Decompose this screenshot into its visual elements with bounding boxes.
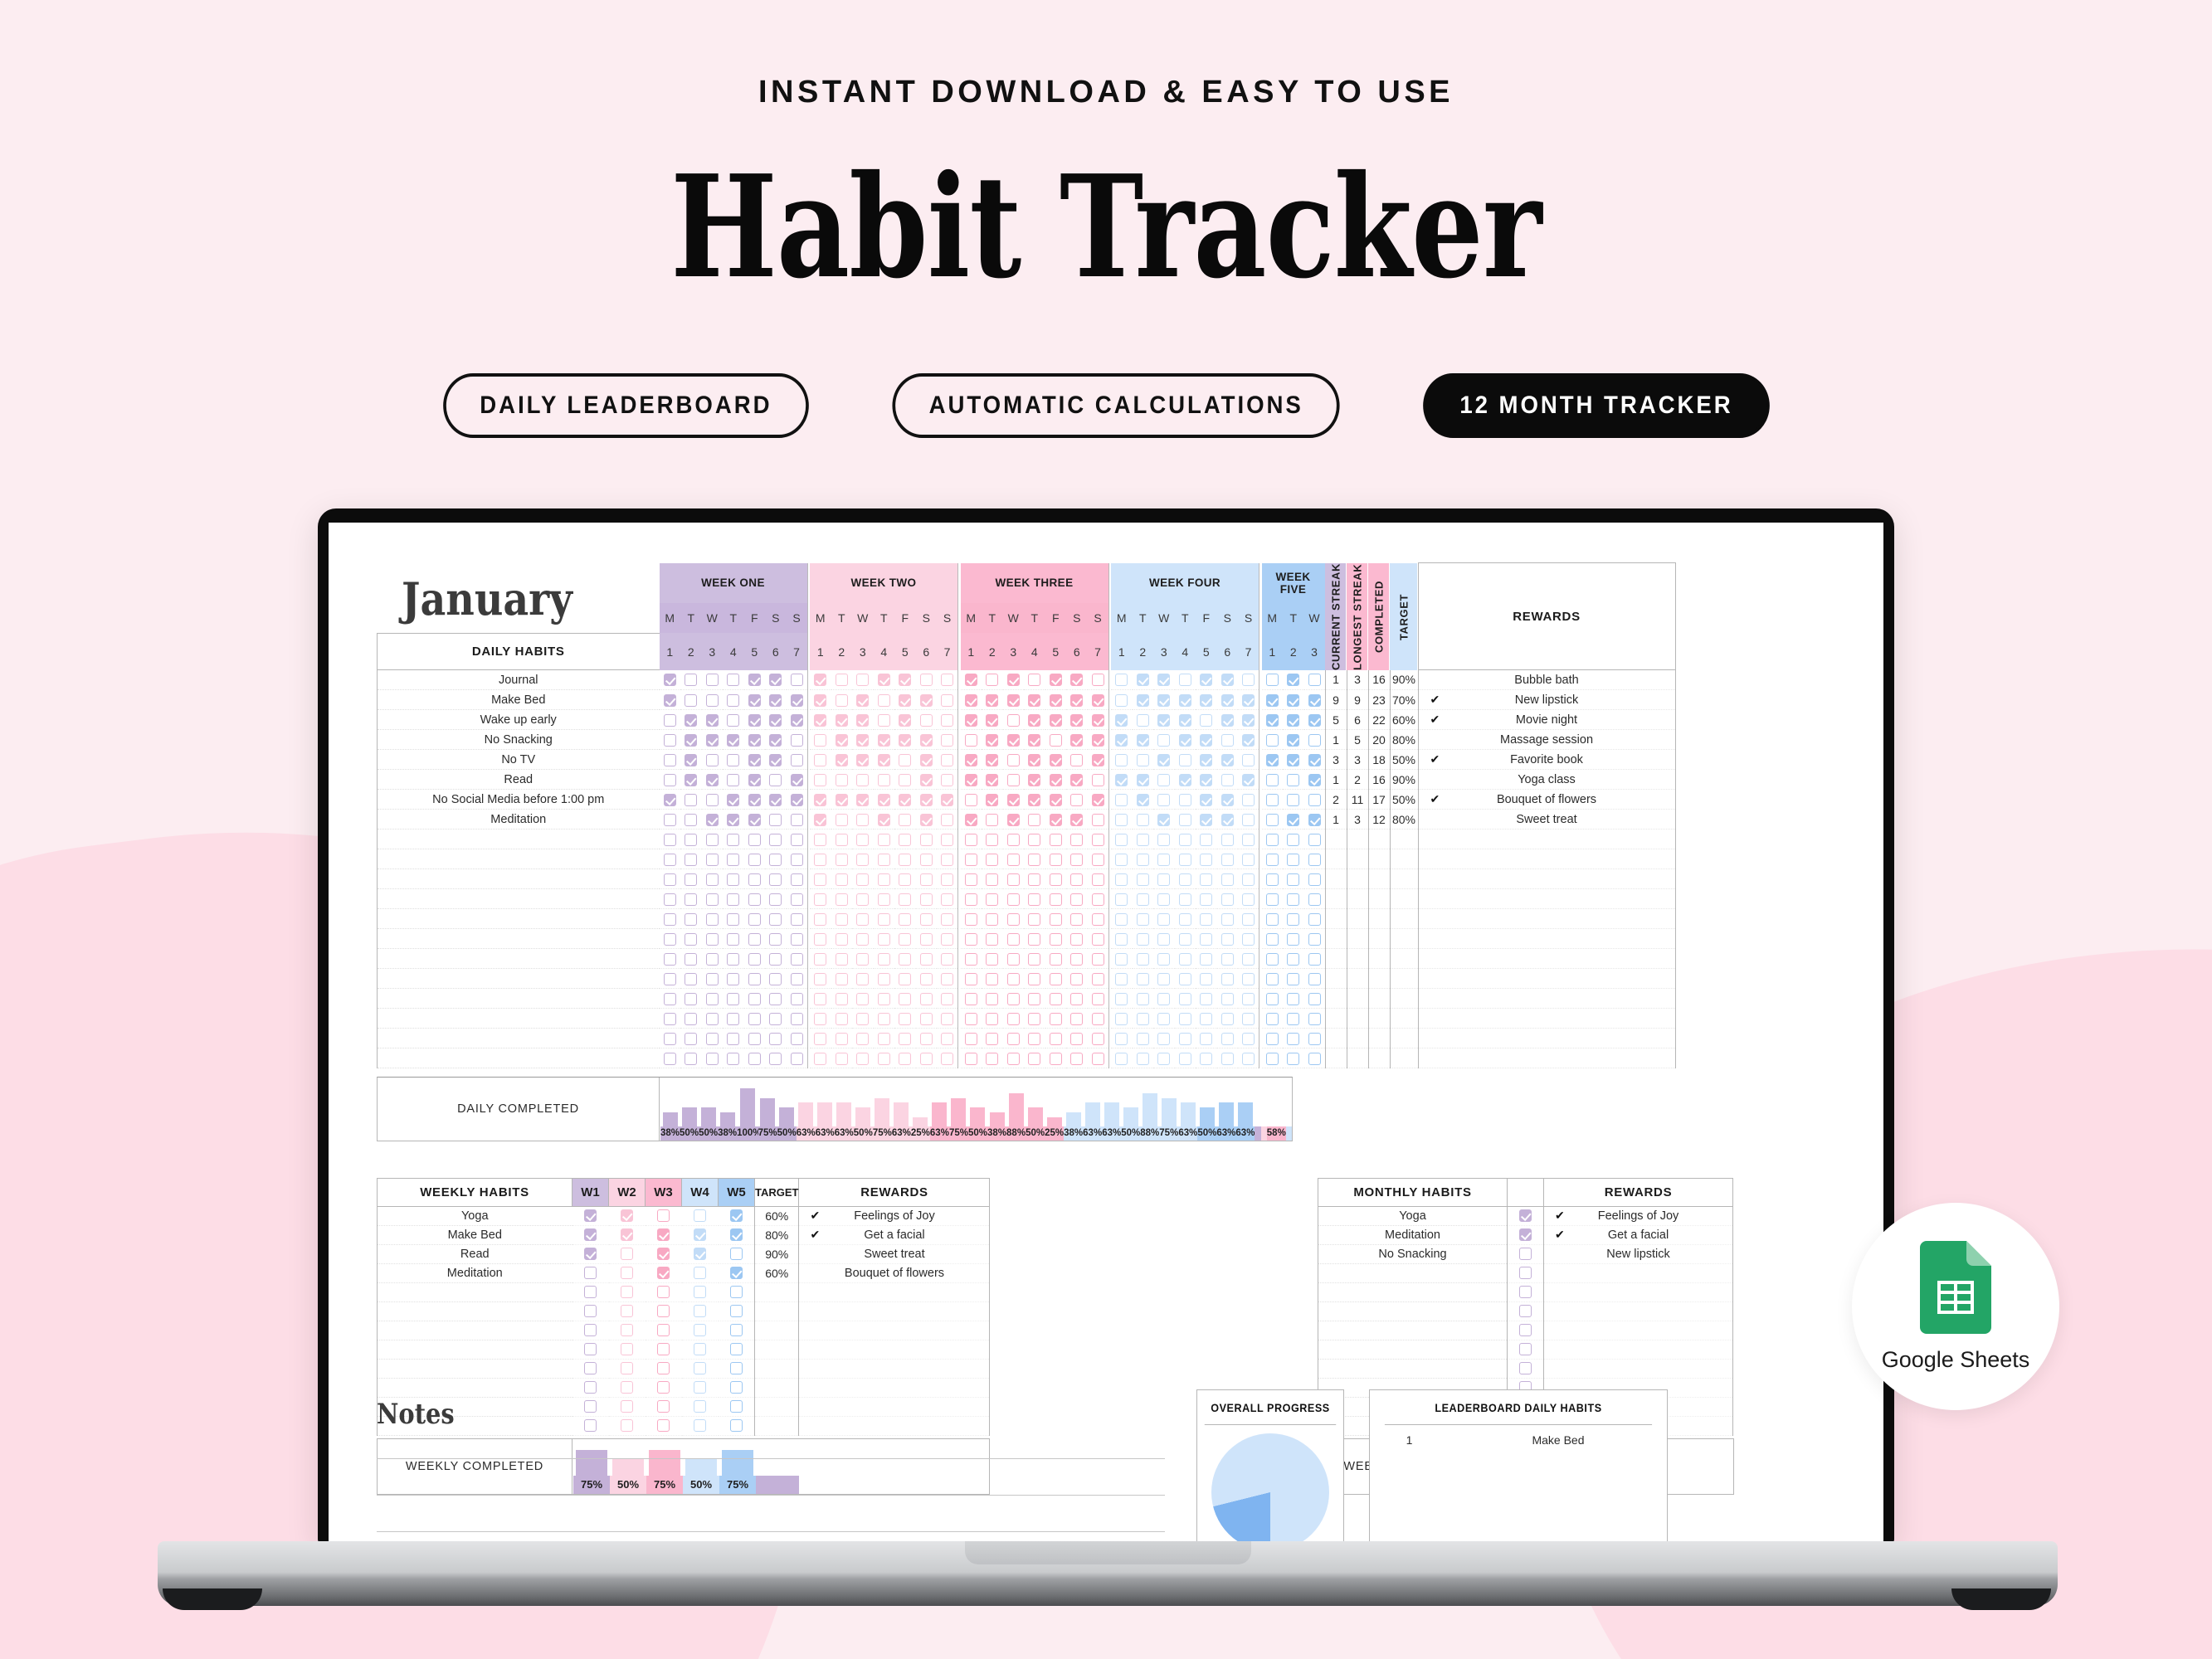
daily-checkbox-empty[interactable] (1283, 829, 1304, 849)
checkbox-unchecked[interactable] (1028, 933, 1040, 946)
checkbox-checked[interactable] (1028, 734, 1040, 747)
checkbox-unchecked[interactable] (1157, 794, 1170, 806)
daily-checkbox-empty[interactable] (1262, 989, 1284, 1009)
checkbox-unchecked[interactable] (1007, 993, 1020, 1005)
checkbox-checked[interactable] (657, 1228, 670, 1241)
daily-checkbox-empty[interactable] (937, 909, 958, 929)
checkbox-unchecked[interactable] (856, 814, 869, 826)
checkbox-unchecked[interactable] (1070, 873, 1083, 886)
checkbox-checked[interactable] (1266, 694, 1279, 707)
checkbox-unchecked[interactable] (1137, 754, 1149, 766)
daily-checkbox-empty[interactable] (1003, 889, 1025, 909)
daily-checkbox-1-1-5[interactable] (744, 670, 766, 690)
checkbox-unchecked[interactable] (1221, 1033, 1234, 1045)
weekly-checkbox-3-W1[interactable] (572, 1245, 609, 1264)
daily-checkbox-empty[interactable] (810, 849, 831, 869)
daily-checkbox-empty[interactable] (1045, 909, 1067, 929)
weekly-checkbox-6-W2[interactable] (609, 1302, 646, 1321)
daily-checkbox-5-2-7[interactable] (937, 750, 958, 770)
checkbox-unchecked[interactable] (1221, 913, 1234, 926)
daily-checkbox-4-4-4[interactable] (1175, 730, 1196, 750)
weekly-checkbox-2-W1[interactable] (572, 1226, 609, 1245)
weekly-checkbox-8-W5[interactable] (719, 1340, 755, 1360)
checkbox-unchecked[interactable] (694, 1419, 706, 1432)
daily-checkbox-empty[interactable] (1238, 909, 1259, 929)
checkbox-unchecked[interactable] (584, 1324, 597, 1336)
checkbox-unchecked[interactable] (664, 754, 676, 766)
checkbox-unchecked[interactable] (1137, 1013, 1149, 1025)
checkbox-unchecked[interactable] (621, 1286, 633, 1298)
checkbox-checked[interactable] (920, 694, 933, 707)
checkbox-unchecked[interactable] (664, 1013, 676, 1025)
daily-checkbox-8-1-5[interactable] (744, 810, 766, 829)
daily-checkbox-5-2-6[interactable] (916, 750, 938, 770)
checkbox-checked[interactable] (727, 734, 739, 747)
checkbox-unchecked[interactable] (685, 694, 697, 707)
checkbox-unchecked[interactable] (1287, 973, 1299, 985)
daily-checkbox-2-1-1[interactable] (660, 690, 681, 710)
daily-checkbox-6-3-7[interactable] (1088, 770, 1109, 790)
checkbox-unchecked[interactable] (1266, 794, 1279, 806)
daily-checkbox-empty[interactable] (680, 869, 702, 889)
checkbox-unchecked[interactable] (1050, 1033, 1062, 1045)
checkbox-unchecked[interactable] (685, 933, 697, 946)
daily-checkbox-5-4-1[interactable] (1111, 750, 1133, 770)
checkbox-checked[interactable] (856, 754, 869, 766)
daily-checkbox-empty[interactable] (1024, 949, 1045, 969)
checkbox-unchecked[interactable] (941, 674, 953, 686)
daily-checkbox-empty[interactable] (961, 929, 982, 949)
checkbox-unchecked[interactable] (1266, 1053, 1279, 1065)
checkbox-unchecked[interactable] (986, 973, 998, 985)
daily-checkbox-5-1-3[interactable] (702, 750, 724, 770)
daily-checkbox-empty[interactable] (1304, 829, 1326, 849)
checkbox-unchecked[interactable] (986, 893, 998, 906)
weekly-checkbox-11-W4[interactable] (682, 1398, 719, 1417)
daily-checkbox-5-4-7[interactable] (1238, 750, 1259, 770)
daily-checkbox-8-1-3[interactable] (702, 810, 724, 829)
daily-checkbox-empty[interactable] (1238, 869, 1259, 889)
checkbox-checked[interactable] (986, 754, 998, 766)
daily-checkbox-empty[interactable] (874, 829, 895, 849)
daily-checkbox-1-3-3[interactable] (1003, 670, 1025, 690)
checkbox-checked[interactable] (856, 714, 869, 727)
checkbox-unchecked[interactable] (965, 1013, 977, 1025)
checkbox-unchecked[interactable] (1007, 913, 1020, 926)
checkbox-unchecked[interactable] (814, 754, 826, 766)
checkbox-unchecked[interactable] (1070, 953, 1083, 966)
daily-checkbox-empty[interactable] (765, 929, 787, 949)
daily-checkbox-4-4-1[interactable] (1111, 730, 1133, 750)
daily-checkbox-8-5-1[interactable] (1262, 810, 1284, 829)
checkbox-unchecked[interactable] (856, 774, 869, 786)
weekly-checkbox-1-W1[interactable] (572, 1207, 609, 1226)
daily-checkbox-empty[interactable] (1088, 1009, 1109, 1029)
checkbox-unchecked[interactable] (1242, 1033, 1255, 1045)
daily-checkbox-empty[interactable] (1175, 1009, 1196, 1029)
daily-checkbox-empty[interactable] (744, 889, 766, 909)
weekly-checkbox-6-W1[interactable] (572, 1302, 609, 1321)
daily-checkbox-3-4-3[interactable] (1153, 710, 1175, 730)
checkbox-unchecked[interactable] (941, 694, 953, 707)
checkbox-unchecked[interactable] (965, 933, 977, 946)
checkbox-unchecked[interactable] (621, 1343, 633, 1355)
daily-checkbox-2-3-6[interactable] (1066, 690, 1088, 710)
checkbox-checked[interactable] (814, 714, 826, 727)
daily-checkbox-empty[interactable] (1024, 909, 1045, 929)
daily-checkbox-empty[interactable] (894, 929, 916, 949)
weekly-checkbox-8-W1[interactable] (572, 1340, 609, 1360)
checkbox-unchecked[interactable] (1007, 774, 1020, 786)
daily-checkbox-empty[interactable] (660, 989, 681, 1009)
daily-checkbox-empty[interactable] (1283, 1048, 1304, 1068)
daily-checkbox-6-3-5[interactable] (1045, 770, 1067, 790)
checkbox-unchecked[interactable] (1157, 734, 1170, 747)
daily-checkbox-empty[interactable] (961, 909, 982, 929)
daily-checkbox-7-4-5[interactable] (1196, 790, 1217, 810)
daily-checkbox-2-3-1[interactable] (961, 690, 982, 710)
checkbox-unchecked[interactable] (664, 734, 676, 747)
checkbox-unchecked[interactable] (1200, 993, 1212, 1005)
daily-checkbox-empty[interactable] (702, 1009, 724, 1029)
checkbox-unchecked[interactable] (769, 993, 782, 1005)
daily-checkbox-empty[interactable] (1024, 989, 1045, 1009)
checkbox-unchecked[interactable] (621, 1400, 633, 1413)
daily-checkbox-empty[interactable] (1024, 1029, 1045, 1048)
checkbox-unchecked[interactable] (878, 1033, 890, 1045)
daily-checkbox-6-3-4[interactable] (1024, 770, 1045, 790)
daily-checkbox-empty[interactable] (1045, 829, 1067, 849)
monthly-checkbox-9[interactable] (1508, 1360, 1544, 1379)
daily-checkbox-1-4-3[interactable] (1153, 670, 1175, 690)
weekly-checkbox-7-W2[interactable] (609, 1321, 646, 1340)
weekly-checkbox-9-W3[interactable] (646, 1360, 682, 1379)
checkbox-unchecked[interactable] (1242, 794, 1255, 806)
daily-checkbox-7-1-1[interactable] (660, 790, 681, 810)
checkbox-checked[interactable] (1242, 774, 1255, 786)
checkbox-checked[interactable] (685, 774, 697, 786)
daily-checkbox-empty[interactable] (810, 909, 831, 929)
checkbox-checked[interactable] (791, 794, 803, 806)
weekly-checkbox-3-W5[interactable] (719, 1245, 755, 1264)
checkbox-checked[interactable] (621, 1228, 633, 1241)
checkbox-unchecked[interactable] (685, 814, 697, 826)
checkbox-checked[interactable] (899, 714, 911, 727)
daily-checkbox-7-3-1[interactable] (961, 790, 982, 810)
checkbox-unchecked[interactable] (664, 993, 676, 1005)
checkbox-unchecked[interactable] (685, 1033, 697, 1045)
daily-checkbox-empty[interactable] (787, 849, 808, 869)
checkbox-unchecked[interactable] (836, 674, 848, 686)
daily-checkbox-empty[interactable] (702, 969, 724, 989)
daily-checkbox-4-3-6[interactable] (1066, 730, 1088, 750)
checkbox-unchecked[interactable] (941, 933, 953, 946)
daily-checkbox-empty[interactable] (1262, 909, 1284, 929)
checkbox-checked[interactable] (1200, 774, 1212, 786)
daily-checkbox-7-4-2[interactable] (1133, 790, 1154, 810)
daily-checkbox-empty[interactable] (787, 869, 808, 889)
checkbox-unchecked[interactable] (694, 1343, 706, 1355)
checkbox-unchecked[interactable] (664, 814, 676, 826)
daily-checkbox-empty[interactable] (874, 1009, 895, 1029)
checkbox-unchecked[interactable] (685, 1013, 697, 1025)
checkbox-checked[interactable] (1221, 674, 1234, 686)
checkbox-unchecked[interactable] (748, 973, 761, 985)
daily-checkbox-7-1-3[interactable] (702, 790, 724, 810)
weekly-checkbox-10-W4[interactable] (682, 1379, 719, 1398)
daily-checkbox-2-4-3[interactable] (1153, 690, 1175, 710)
checkbox-unchecked[interactable] (986, 873, 998, 886)
checkbox-unchecked[interactable] (920, 973, 933, 985)
daily-checkbox-4-1-7[interactable] (787, 730, 808, 750)
checkbox-unchecked[interactable] (836, 834, 848, 846)
daily-checkbox-5-4-6[interactable] (1217, 750, 1239, 770)
daily-checkbox-empty[interactable] (1133, 889, 1154, 909)
daily-checkbox-7-3-4[interactable] (1024, 790, 1045, 810)
checkbox-unchecked[interactable] (727, 714, 739, 727)
daily-checkbox-7-5-1[interactable] (1262, 790, 1284, 810)
checkbox-unchecked[interactable] (1028, 814, 1040, 826)
checkbox-unchecked[interactable] (1137, 953, 1149, 966)
checkbox-checked[interactable] (814, 694, 826, 707)
checkbox-unchecked[interactable] (1179, 834, 1191, 846)
checkbox-unchecked[interactable] (856, 893, 869, 906)
checkbox-unchecked[interactable] (1308, 1013, 1321, 1025)
checkbox-unchecked[interactable] (769, 774, 782, 786)
checkbox-unchecked[interactable] (1028, 854, 1040, 866)
checkbox-checked[interactable] (1070, 694, 1083, 707)
daily-checkbox-empty[interactable] (1024, 1048, 1045, 1068)
checkbox-unchecked[interactable] (836, 814, 848, 826)
checkbox-unchecked[interactable] (1221, 734, 1234, 747)
monthly-checkbox-5[interactable] (1508, 1283, 1544, 1302)
monthly-checkbox-7[interactable] (1508, 1321, 1544, 1340)
checkbox-checked[interactable] (1287, 694, 1299, 707)
daily-checkbox-2-4-2[interactable] (1133, 690, 1154, 710)
daily-checkbox-6-1-5[interactable] (744, 770, 766, 790)
checkbox-unchecked[interactable] (1221, 834, 1234, 846)
daily-checkbox-7-2-5[interactable] (894, 790, 916, 810)
checkbox-unchecked[interactable] (1137, 1033, 1149, 1045)
daily-checkbox-empty[interactable] (744, 829, 766, 849)
daily-checkbox-empty[interactable] (1045, 1029, 1067, 1048)
daily-checkbox-5-2-5[interactable] (894, 750, 916, 770)
checkbox-checked[interactable] (1092, 794, 1104, 806)
daily-checkbox-empty[interactable] (1111, 1009, 1133, 1029)
daily-checkbox-empty[interactable] (702, 909, 724, 929)
checkbox-checked[interactable] (706, 734, 719, 747)
checkbox-unchecked[interactable] (878, 834, 890, 846)
daily-checkbox-empty[interactable] (723, 1048, 744, 1068)
checkbox-unchecked[interactable] (1179, 1013, 1191, 1025)
checkbox-unchecked[interactable] (685, 973, 697, 985)
daily-checkbox-empty[interactable] (1304, 989, 1326, 1009)
weekly-checkbox-11-W3[interactable] (646, 1398, 682, 1417)
daily-checkbox-empty[interactable] (1262, 829, 1284, 849)
daily-checkbox-empty[interactable] (852, 989, 874, 1009)
checkbox-unchecked[interactable] (730, 1324, 743, 1336)
checkbox-unchecked[interactable] (1092, 1053, 1104, 1065)
daily-checkbox-1-5-2[interactable] (1283, 670, 1304, 690)
daily-checkbox-empty[interactable] (787, 1009, 808, 1029)
daily-checkbox-2-4-4[interactable] (1175, 690, 1196, 710)
checkbox-unchecked[interactable] (1179, 893, 1191, 906)
checkbox-unchecked[interactable] (694, 1267, 706, 1279)
daily-checkbox-empty[interactable] (916, 989, 938, 1009)
daily-checkbox-empty[interactable] (723, 929, 744, 949)
daily-checkbox-empty[interactable] (1088, 969, 1109, 989)
checkbox-checked[interactable] (1070, 814, 1083, 826)
daily-checkbox-empty[interactable] (660, 1048, 681, 1068)
checkbox-unchecked[interactable] (685, 913, 697, 926)
daily-checkbox-empty[interactable] (1111, 989, 1133, 1009)
checkbox-unchecked[interactable] (878, 993, 890, 1005)
weekly-checkbox-9-W2[interactable] (609, 1360, 646, 1379)
daily-checkbox-empty[interactable] (1088, 1029, 1109, 1048)
checkbox-checked[interactable] (986, 694, 998, 707)
daily-checkbox-8-4-2[interactable] (1133, 810, 1154, 829)
daily-checkbox-empty[interactable] (1003, 869, 1025, 889)
daily-checkbox-empty[interactable] (982, 889, 1003, 909)
checkbox-unchecked[interactable] (1308, 973, 1321, 985)
checkbox-checked[interactable] (899, 694, 911, 707)
checkbox-unchecked[interactable] (1050, 1013, 1062, 1025)
daily-checkbox-5-3-7[interactable] (1088, 750, 1109, 770)
checkbox-unchecked[interactable] (1007, 714, 1020, 727)
daily-checkbox-8-3-4[interactable] (1024, 810, 1045, 829)
checkbox-checked[interactable] (965, 694, 977, 707)
daily-checkbox-4-3-4[interactable] (1024, 730, 1045, 750)
checkbox-unchecked[interactable] (836, 1053, 848, 1065)
daily-checkbox-empty[interactable] (1003, 1009, 1025, 1029)
checkbox-checked[interactable] (664, 674, 676, 686)
daily-checkbox-empty[interactable] (1196, 929, 1217, 949)
daily-checkbox-2-2-6[interactable] (916, 690, 938, 710)
daily-checkbox-empty[interactable] (937, 869, 958, 889)
daily-checkbox-7-2-2[interactable] (831, 790, 853, 810)
checkbox-unchecked[interactable] (899, 774, 911, 786)
checkbox-unchecked[interactable] (986, 1053, 998, 1065)
checkbox-unchecked[interactable] (621, 1248, 633, 1260)
daily-checkbox-empty[interactable] (1024, 969, 1045, 989)
checkbox-unchecked[interactable] (1287, 873, 1299, 886)
checkbox-unchecked[interactable] (1157, 1013, 1170, 1025)
checkbox-unchecked[interactable] (748, 1033, 761, 1045)
daily-checkbox-empty[interactable] (1217, 889, 1239, 909)
checkbox-unchecked[interactable] (1092, 1013, 1104, 1025)
daily-checkbox-empty[interactable] (1088, 929, 1109, 949)
daily-checkbox-empty[interactable] (1111, 909, 1133, 929)
daily-checkbox-empty[interactable] (1238, 1029, 1259, 1048)
daily-checkbox-2-1-2[interactable] (680, 690, 702, 710)
daily-checkbox-empty[interactable] (961, 829, 982, 849)
daily-checkbox-2-5-1[interactable] (1262, 690, 1284, 710)
checkbox-unchecked[interactable] (920, 834, 933, 846)
daily-checkbox-empty[interactable] (1066, 949, 1088, 969)
daily-checkbox-1-3-4[interactable] (1024, 670, 1045, 690)
daily-checkbox-7-3-3[interactable] (1003, 790, 1025, 810)
daily-checkbox-empty[interactable] (982, 989, 1003, 1009)
checkbox-unchecked[interactable] (1242, 993, 1255, 1005)
daily-checkbox-empty[interactable] (937, 849, 958, 869)
daily-checkbox-empty[interactable] (744, 1009, 766, 1029)
daily-checkbox-empty[interactable] (852, 829, 874, 849)
daily-checkbox-empty[interactable] (894, 1009, 916, 1029)
checkbox-unchecked[interactable] (941, 913, 953, 926)
daily-checkbox-8-2-1[interactable] (810, 810, 831, 829)
daily-checkbox-8-2-3[interactable] (852, 810, 874, 829)
daily-checkbox-8-3-3[interactable] (1003, 810, 1025, 829)
weekly-checkbox-12-W2[interactable] (609, 1417, 646, 1436)
daily-checkbox-3-1-1[interactable] (660, 710, 681, 730)
checkbox-unchecked[interactable] (1050, 993, 1062, 1005)
daily-checkbox-empty[interactable] (982, 1029, 1003, 1048)
daily-checkbox-empty[interactable] (1238, 969, 1259, 989)
checkbox-unchecked[interactable] (1266, 893, 1279, 906)
daily-checkbox-empty[interactable] (680, 1009, 702, 1029)
daily-checkbox-6-1-6[interactable] (765, 770, 787, 790)
checkbox-unchecked[interactable] (1308, 953, 1321, 966)
daily-checkbox-empty[interactable] (723, 949, 744, 969)
checkbox-unchecked[interactable] (727, 754, 739, 766)
checkbox-unchecked[interactable] (769, 953, 782, 966)
daily-checkbox-empty[interactable] (1003, 849, 1025, 869)
checkbox-unchecked[interactable] (1179, 973, 1191, 985)
checkbox-unchecked[interactable] (899, 854, 911, 866)
checkbox-unchecked[interactable] (1200, 913, 1212, 926)
daily-checkbox-empty[interactable] (1111, 949, 1133, 969)
daily-checkbox-empty[interactable] (916, 869, 938, 889)
daily-checkbox-empty[interactable] (1153, 1009, 1175, 1029)
checkbox-checked[interactable] (1070, 674, 1083, 686)
checkbox-checked[interactable] (1050, 814, 1062, 826)
checkbox-unchecked[interactable] (748, 953, 761, 966)
daily-checkbox-empty[interactable] (831, 929, 853, 949)
daily-checkbox-empty[interactable] (787, 909, 808, 929)
daily-checkbox-4-1-3[interactable] (702, 730, 724, 750)
daily-checkbox-empty[interactable] (744, 969, 766, 989)
checkbox-unchecked[interactable] (1200, 933, 1212, 946)
daily-checkbox-empty[interactable] (744, 849, 766, 869)
checkbox-unchecked[interactable] (730, 1305, 743, 1317)
checkbox-unchecked[interactable] (1266, 674, 1279, 686)
checkbox-checked[interactable] (664, 694, 676, 707)
daily-checkbox-3-3-7[interactable] (1088, 710, 1109, 730)
checkbox-unchecked[interactable] (1115, 694, 1128, 707)
daily-checkbox-4-1-6[interactable] (765, 730, 787, 750)
daily-checkbox-empty[interactable] (1111, 889, 1133, 909)
weekly-checkbox-2-W4[interactable] (682, 1226, 719, 1245)
checkbox-unchecked[interactable] (1308, 674, 1321, 686)
checkbox-unchecked[interactable] (1519, 1267, 1532, 1279)
daily-checkbox-3-4-6[interactable] (1217, 710, 1239, 730)
daily-checkbox-empty[interactable] (810, 949, 831, 969)
checkbox-unchecked[interactable] (941, 893, 953, 906)
daily-checkbox-empty[interactable] (831, 829, 853, 849)
daily-checkbox-empty[interactable] (1304, 1029, 1326, 1048)
daily-checkbox-empty[interactable] (1175, 909, 1196, 929)
daily-checkbox-7-4-6[interactable] (1217, 790, 1239, 810)
checkbox-unchecked[interactable] (856, 953, 869, 966)
checkbox-checked[interactable] (878, 674, 890, 686)
daily-checkbox-3-1-3[interactable] (702, 710, 724, 730)
daily-checkbox-3-2-4[interactable] (874, 710, 895, 730)
checkbox-checked[interactable] (706, 774, 719, 786)
checkbox-checked[interactable] (836, 794, 848, 806)
daily-checkbox-empty[interactable] (660, 849, 681, 869)
checkbox-unchecked[interactable] (727, 993, 739, 1005)
checkbox-unchecked[interactable] (899, 1013, 911, 1025)
